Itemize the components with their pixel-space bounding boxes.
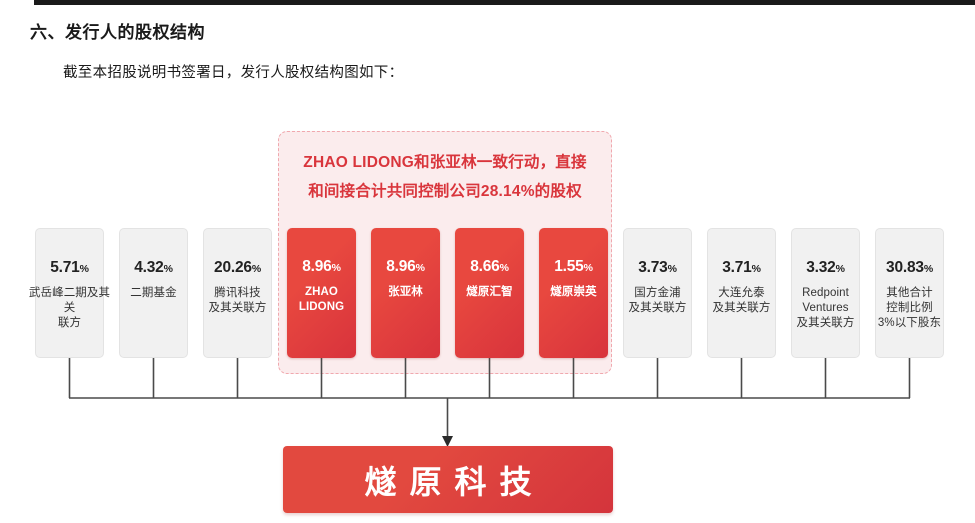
shareholder-percentage: 3.32% bbox=[806, 259, 845, 277]
shareholder-card: 8.96%ZHAOLIDONG bbox=[287, 228, 356, 358]
shareholder-name-line: Redpoint bbox=[785, 286, 867, 301]
shareholder-percentage: 4.32% bbox=[134, 259, 173, 277]
shareholder-name: 腾讯科技及其关联方 bbox=[197, 286, 279, 316]
shareholder-name-line: 控制比例 bbox=[869, 301, 951, 316]
percent-sign: % bbox=[924, 263, 933, 275]
shareholder-card: 30.83%其他合计控制比例3%以下股东 bbox=[875, 228, 944, 358]
shareholder-name-line: 武岳峰二期及其关 bbox=[29, 286, 111, 316]
shareholder-name-line: 国方金浦 bbox=[617, 286, 699, 301]
shareholder-name-line: 大连允泰 bbox=[701, 286, 783, 301]
percentage-value: 4.32 bbox=[134, 259, 163, 276]
shareholder-name: 二期基金 bbox=[113, 286, 195, 301]
shareholder-name: 燧原汇智 bbox=[455, 285, 525, 300]
shareholder-card: 1.55%燧原崇英 bbox=[539, 228, 608, 358]
shareholder-name-line: 燧原汇智 bbox=[455, 285, 525, 300]
shareholder-card: 3.32%RedpointVentures及其关联方 bbox=[791, 228, 860, 358]
shareholder-percentage: 1.55% bbox=[554, 258, 593, 276]
shareholder-card: 3.73%国方金浦及其关联方 bbox=[623, 228, 692, 358]
shareholder-card: 4.32%二期基金 bbox=[119, 228, 188, 358]
shareholder-percentage: 8.66% bbox=[470, 258, 509, 276]
percentage-value: 5.71 bbox=[50, 259, 79, 276]
shareholder-name-line: 张亚林 bbox=[371, 285, 441, 300]
percentage-value: 20.26 bbox=[214, 259, 252, 276]
percentage-value: 1.55 bbox=[554, 258, 583, 275]
shareholder-name-line: 燧原崇英 bbox=[539, 285, 609, 300]
shareholder-name-line: 其他合计 bbox=[869, 286, 951, 301]
shareholder-card: 8.66%燧原汇智 bbox=[455, 228, 524, 358]
shareholder-name-line: Ventures bbox=[785, 301, 867, 316]
percent-sign: % bbox=[836, 263, 845, 275]
percentage-value: 30.83 bbox=[886, 259, 924, 276]
percentage-value: 8.66 bbox=[470, 258, 499, 275]
shareholder-name-line: 及其关联方 bbox=[701, 301, 783, 316]
shareholder-name: 燧原崇英 bbox=[539, 285, 609, 300]
company-name: 燧原科技 bbox=[351, 457, 544, 503]
percentage-value: 8.96 bbox=[386, 258, 415, 275]
shareholder-name: ZHAOLIDONG bbox=[287, 285, 357, 314]
percent-sign: % bbox=[584, 262, 593, 274]
shareholder-percentage: 5.71% bbox=[50, 259, 89, 277]
shareholder-percentage: 3.71% bbox=[722, 259, 761, 277]
shareholder-name-line: LIDONG bbox=[287, 300, 357, 315]
shareholder-name: 其他合计控制比例3%以下股东 bbox=[869, 286, 951, 331]
shareholder-name-line: 及其关联方 bbox=[197, 301, 279, 316]
percent-sign: % bbox=[252, 263, 261, 275]
shareholder-name: 武岳峰二期及其关联方 bbox=[29, 286, 111, 331]
shareholder-percentage: 3.73% bbox=[638, 259, 677, 277]
shareholder-name: RedpointVentures及其关联方 bbox=[785, 286, 867, 331]
shareholder-name-line: 二期基金 bbox=[113, 286, 195, 301]
shareholder-percentage: 8.96% bbox=[302, 258, 341, 276]
shareholder-card: 5.71%武岳峰二期及其关联方 bbox=[35, 228, 104, 358]
shareholder-percentage: 8.96% bbox=[386, 258, 425, 276]
shareholder-card: 20.26%腾讯科技及其关联方 bbox=[203, 228, 272, 358]
shareholder-percentage: 20.26% bbox=[214, 259, 261, 277]
company-box: 燧原科技 bbox=[283, 446, 613, 513]
shareholder-name: 国方金浦及其关联方 bbox=[617, 286, 699, 316]
shareholder-name-line: 3%以下股东 bbox=[869, 316, 951, 331]
percent-sign: % bbox=[752, 263, 761, 275]
percent-sign: % bbox=[164, 263, 173, 275]
percent-sign: % bbox=[80, 263, 89, 275]
percent-sign: % bbox=[500, 262, 509, 274]
percent-sign: % bbox=[668, 263, 677, 275]
percentage-value: 8.96 bbox=[302, 258, 331, 275]
shareholder-card: 8.96%张亚林 bbox=[371, 228, 440, 358]
shareholder-name: 张亚林 bbox=[371, 285, 441, 300]
shareholder-percentage: 30.83% bbox=[886, 259, 933, 277]
percentage-value: 3.32 bbox=[806, 259, 835, 276]
shareholder-name-line: 腾讯科技 bbox=[197, 286, 279, 301]
shareholder-row: 5.71%武岳峰二期及其关联方4.32%二期基金20.26%腾讯科技及其关联方8… bbox=[0, 228, 975, 358]
percent-sign: % bbox=[332, 262, 341, 274]
shareholder-name-line: ZHAO bbox=[287, 285, 357, 300]
shareholder-name-line: 及其关联方 bbox=[617, 301, 699, 316]
shareholder-name-line: 及其关联方 bbox=[785, 316, 867, 331]
percent-sign: % bbox=[416, 262, 425, 274]
percentage-value: 3.71 bbox=[722, 259, 751, 276]
percentage-value: 3.73 bbox=[638, 259, 667, 276]
shareholder-name-line: 联方 bbox=[29, 316, 111, 331]
shareholder-name: 大连允泰及其关联方 bbox=[701, 286, 783, 316]
shareholder-card: 3.71%大连允泰及其关联方 bbox=[707, 228, 776, 358]
